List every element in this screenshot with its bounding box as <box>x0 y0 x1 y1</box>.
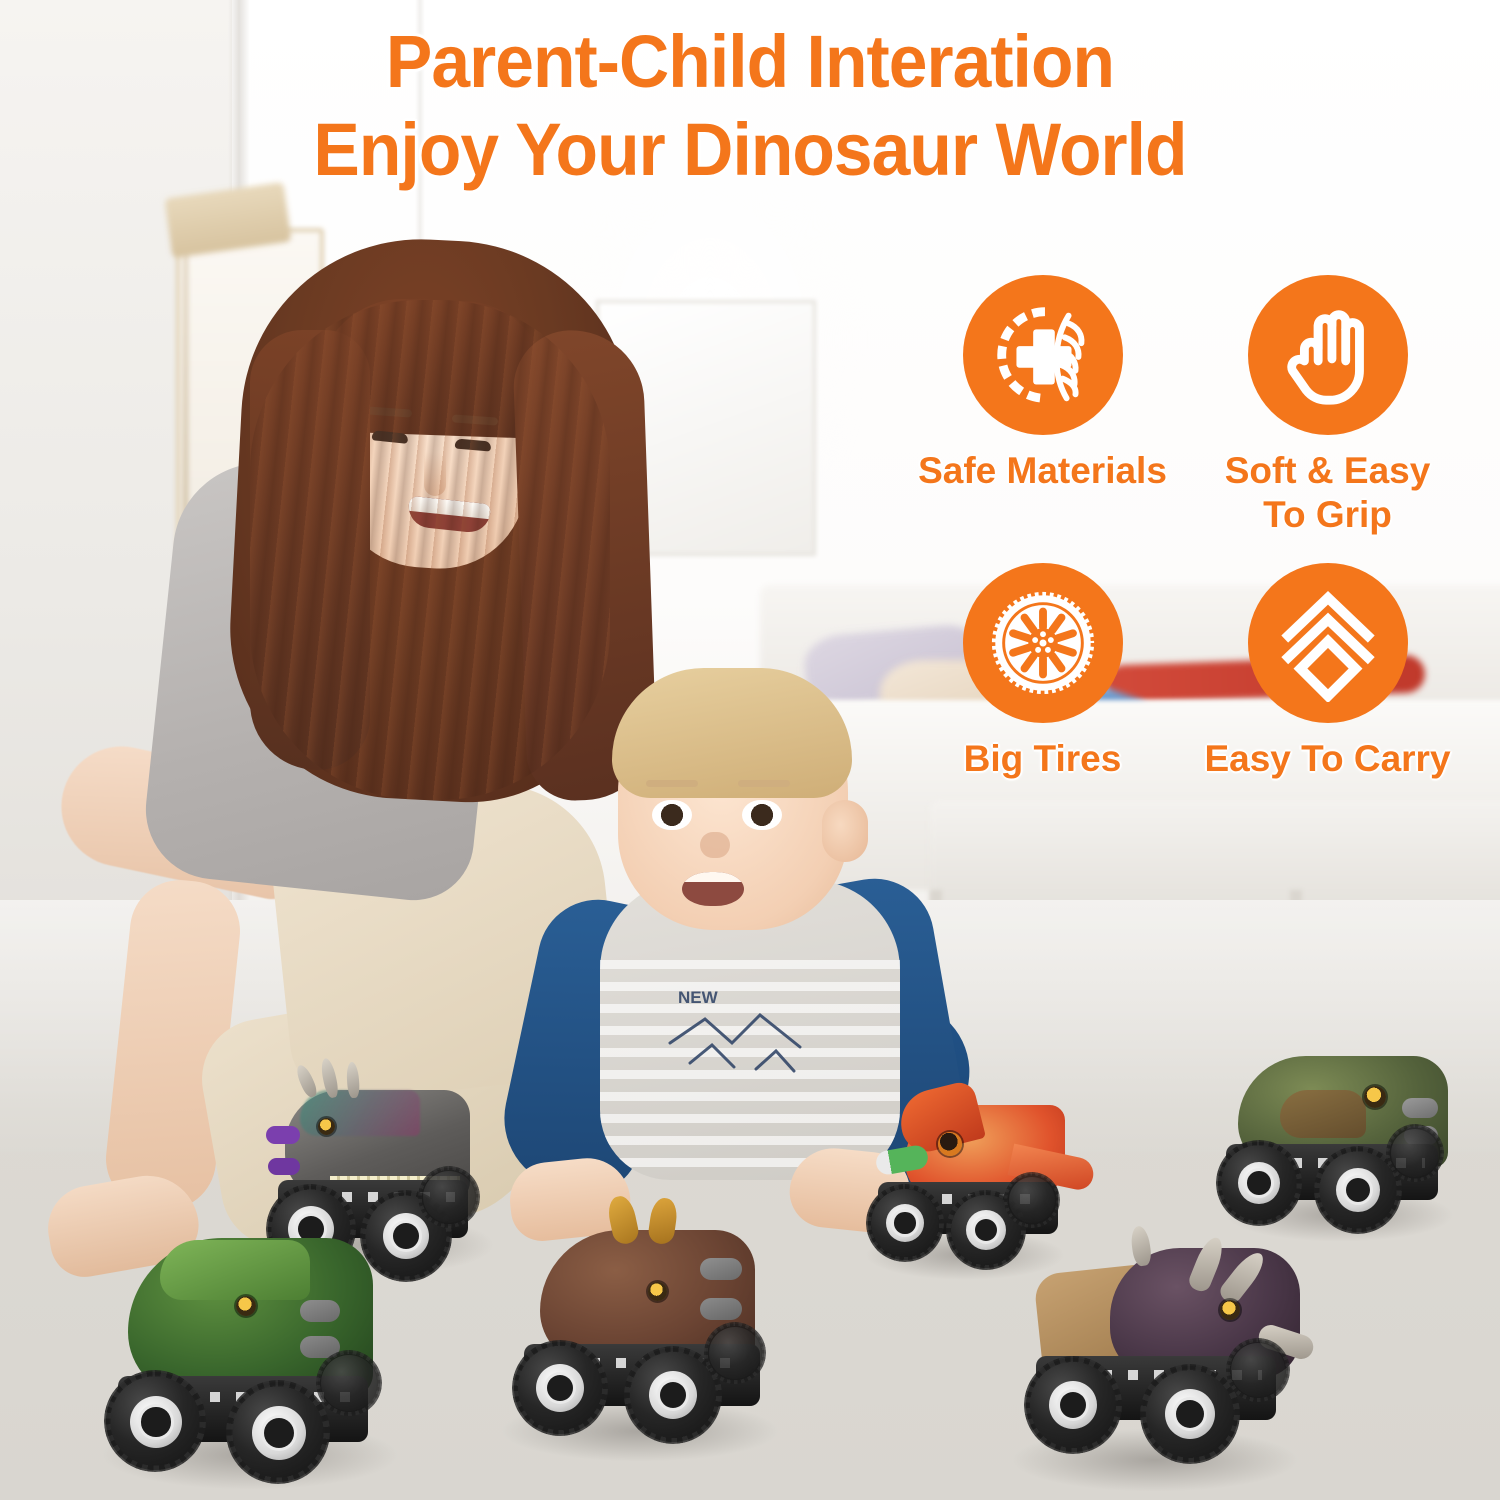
open-hand-icon <box>1248 275 1408 435</box>
feature-label: Safe Materials <box>918 449 1167 493</box>
safety-shield-cross-icon <box>963 275 1123 435</box>
car-wheel-rear <box>318 1352 380 1414</box>
car-wheel <box>1142 1366 1238 1462</box>
feature-label: Easy To Carry <box>1204 737 1450 781</box>
feature-safe-materials: Safe Materials <box>905 275 1180 537</box>
feature-label: Big Tires <box>964 737 1122 781</box>
baby-shirt-graphic: NEW <box>660 985 830 1105</box>
dino-arm <box>1402 1098 1438 1118</box>
baby-eye <box>742 800 782 830</box>
car-wheel-rear <box>1228 1340 1288 1400</box>
car-wheel <box>106 1372 204 1470</box>
svg-text:NEW: NEW <box>678 988 719 1007</box>
feature-easy-to-carry: Easy To Carry <box>1190 563 1465 781</box>
dino-arm <box>700 1298 742 1320</box>
feature-badge-grid: Safe Materials Soft & Easy To Grip <box>905 275 1465 781</box>
car-wheel <box>868 1186 942 1260</box>
baby-eyebrow <box>738 780 790 787</box>
headline: Parent-Child Interation Enjoy Your Dinos… <box>45 18 1455 194</box>
car-wheel <box>1218 1142 1300 1224</box>
dino-eye <box>236 1296 256 1316</box>
dino-eye <box>1220 1300 1240 1320</box>
dino-eye <box>648 1282 667 1301</box>
car-wheel <box>228 1382 328 1482</box>
dino-arm <box>300 1300 340 1322</box>
dino-eye <box>1364 1086 1386 1108</box>
product-marketing-image: NEW <box>0 0 1500 1500</box>
dino-crest <box>160 1240 310 1300</box>
chevron-diamond-icon <box>1248 563 1408 723</box>
tire-wheel-icon <box>963 563 1123 723</box>
dino-horn-purple <box>266 1126 300 1144</box>
headline-line-1: Parent-Child Interation <box>45 18 1455 106</box>
dino-eye <box>318 1118 335 1135</box>
dino-pattern <box>1280 1090 1366 1138</box>
baby-mouth <box>682 872 744 906</box>
car-wheel <box>1026 1358 1120 1452</box>
dino-horn-purple <box>268 1158 300 1175</box>
feature-label: Soft & Easy To Grip <box>1225 449 1431 537</box>
baby-eyebrow <box>646 780 698 787</box>
car-wheel-rear <box>706 1324 764 1382</box>
headline-line-2: Enjoy Your Dinosaur World <box>45 106 1455 194</box>
baby-eye <box>652 800 692 830</box>
car-wheel-rear <box>1388 1126 1442 1180</box>
baby-nose <box>700 832 730 858</box>
car-wheel <box>514 1342 606 1434</box>
dino-eye <box>938 1132 962 1156</box>
feature-big-tires: Big Tires <box>905 563 1180 781</box>
mother-hair-strands <box>250 300 610 800</box>
feature-soft-easy-grip: Soft & Easy To Grip <box>1190 275 1465 537</box>
baby-hair <box>612 668 852 798</box>
car-wheel-rear <box>420 1168 478 1226</box>
dino-arm <box>700 1258 742 1280</box>
baby-ear <box>822 800 868 862</box>
car-wheel-rear <box>1006 1174 1058 1226</box>
